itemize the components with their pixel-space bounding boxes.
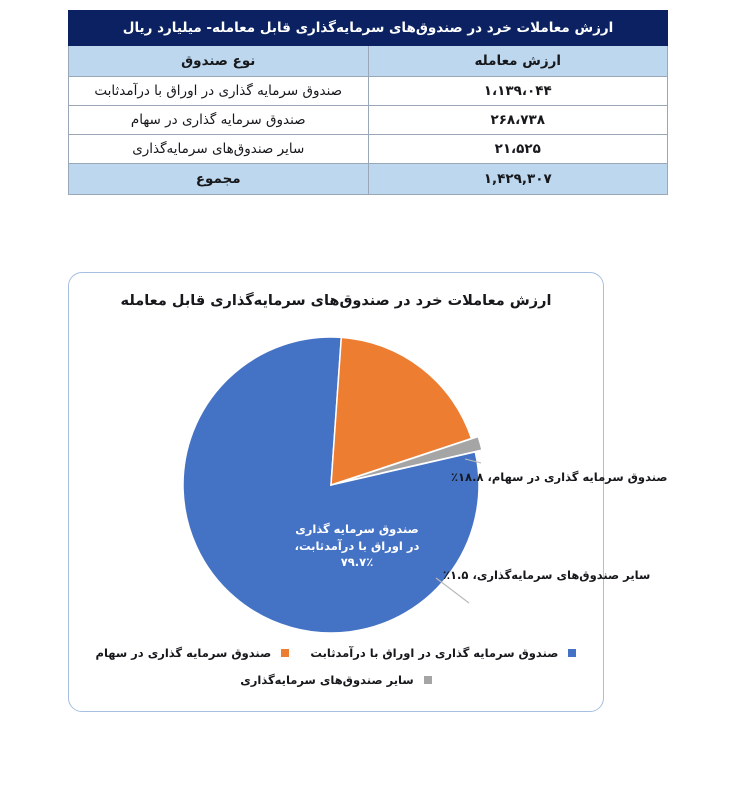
legend-label-equity: صندوق سرمایه گذاری در سهام — [96, 646, 272, 660]
cell-name-equity: صندوق سرمایه گذاری در سهام — [69, 106, 369, 135]
cell-total-label: مجموع — [69, 164, 369, 195]
table-total-row: ۱,۴۲۹,۳۰۷ مجموع — [69, 164, 668, 195]
pie-label-fixed-income-line2: در اوراق با درآمدثابت، — [295, 539, 420, 553]
legend-row-secondary: سایر صندوق‌های سرمایه‌گذاری — [69, 668, 603, 688]
legend-item-fixed-income[interactable]: صندوق سرمایه گذاری در اوراق با درآمدثابت — [310, 642, 576, 661]
pie-chart-svg — [181, 335, 481, 635]
legend-label-fixed-income: صندوق سرمایه گذاری در اوراق با درآمدثابت — [310, 646, 558, 660]
cell-name-other: سایر صندوق‌های سرمایه‌گذاری — [69, 135, 369, 164]
legend-item-other[interactable]: سایر صندوق‌های سرمایه‌گذاری — [240, 669, 432, 688]
legend-label-other: سایر صندوق‌های سرمایه‌گذاری — [240, 673, 413, 687]
table-title: ارزش معاملات خرد در صندوق‌های سرمایه‌گذا… — [69, 11, 668, 46]
pie-label-fixed-income-percent: ۷۹.۷٪ — [341, 555, 373, 569]
pie-chart-card: ارزش معاملات خرد در صندوق‌های سرمایه‌گذا… — [68, 272, 604, 712]
pie-label-fixed-income: صندوق سرمایه گذاری در اوراق با درآمدثابت… — [291, 521, 423, 571]
legend-row-primary: صندوق سرمایه گذاری در اوراق با درآمدثابت… — [69, 641, 603, 661]
pie-label-equity: صندوق سرمایه گذاری در سهام، ۱۸.۸٪ — [451, 469, 668, 486]
table-row: ۲۱،۵۲۵ سایر صندوق‌های سرمایه‌گذاری — [69, 135, 668, 164]
fund-value-table: ارزش معاملات خرد در صندوق‌های سرمایه‌گذا… — [68, 10, 668, 195]
pie-chart-graphic: صندوق سرمایه گذاری در اوراق با درآمدثابت… — [181, 335, 481, 635]
cell-value-fixed-income: ۱،۱۳۹،۰۴۴ — [368, 77, 668, 106]
chart-legend: صندوق سرمایه گذاری در اوراق با درآمدثابت… — [69, 641, 603, 695]
cell-value-other: ۲۱،۵۲۵ — [368, 135, 668, 164]
pie-label-fixed-income-line1: صندوق سرمایه گذاری — [295, 522, 419, 536]
legend-item-equity[interactable]: صندوق سرمایه گذاری در سهام — [96, 642, 290, 661]
table-row: ۲۶۸،۷۳۸ صندوق سرمایه گذاری در سهام — [69, 106, 668, 135]
column-header-name: نوع صندوق — [69, 46, 369, 77]
table-title-row: ارزش معاملات خرد در صندوق‌های سرمایه‌گذا… — [69, 11, 668, 46]
legend-swatch-other-icon — [424, 676, 432, 684]
table-row: ۱،۱۳۹،۰۴۴ صندوق سرمایه گذاری در اوراق با… — [69, 77, 668, 106]
chart-title: ارزش معاملات خرد در صندوق‌های سرمایه‌گذا… — [69, 293, 603, 309]
legend-swatch-fixed-income-icon — [568, 649, 576, 657]
column-header-value: ارزش معامله — [368, 46, 668, 77]
cell-total-value: ۱,۴۲۹,۳۰۷ — [368, 164, 668, 195]
pie-label-other: سایر صندوق‌های سرمایه‌گذاری، ۱.۵٪ — [443, 567, 650, 584]
table-header-row: ارزش معامله نوع صندوق — [69, 46, 668, 77]
cell-value-equity: ۲۶۸،۷۳۸ — [368, 106, 668, 135]
fund-value-table-block: ارزش معاملات خرد در صندوق‌های سرمایه‌گذا… — [68, 10, 668, 195]
cell-name-fixed-income: صندوق سرمایه گذاری در اوراق با درآمدثابت — [69, 77, 369, 106]
legend-swatch-equity-icon — [281, 649, 289, 657]
